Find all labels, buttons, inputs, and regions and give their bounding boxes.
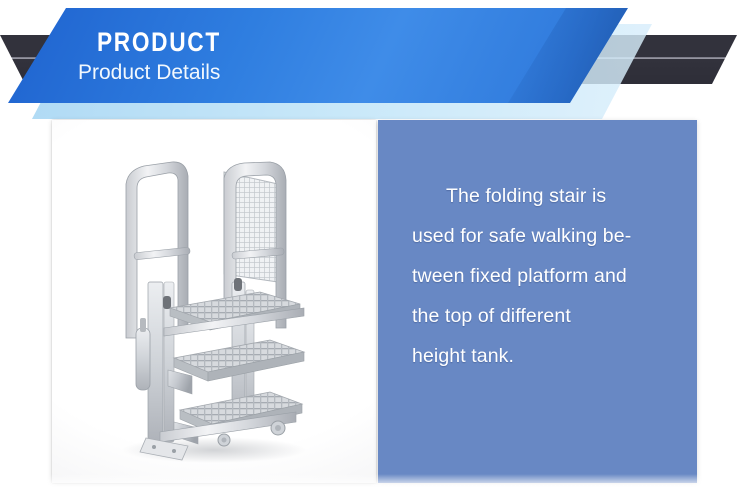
product-details-page: PRODUCT Product Details: [0, 0, 750, 488]
description-line: height tank.: [412, 336, 675, 376]
description-line: the top of different: [412, 296, 675, 336]
content-area: The folding stair is used for safe walki…: [0, 112, 750, 488]
description-line: used for safe walking be-: [412, 216, 675, 256]
description-line: The folding stair is: [412, 176, 675, 216]
folding-stair-illustration: [64, 132, 364, 472]
description-line: tween fixed platform and: [412, 256, 675, 296]
header-banner: PRODUCT Product Details: [0, 0, 750, 112]
description-text: The folding stair is used for safe walki…: [412, 176, 675, 376]
description-panel: The folding stair is used for safe walki…: [378, 120, 697, 483]
product-image-card: [52, 120, 376, 483]
banner-subtitle: Product Details: [78, 62, 220, 83]
banner-title: PRODUCT: [97, 29, 221, 56]
product-image-stage: [52, 120, 376, 483]
